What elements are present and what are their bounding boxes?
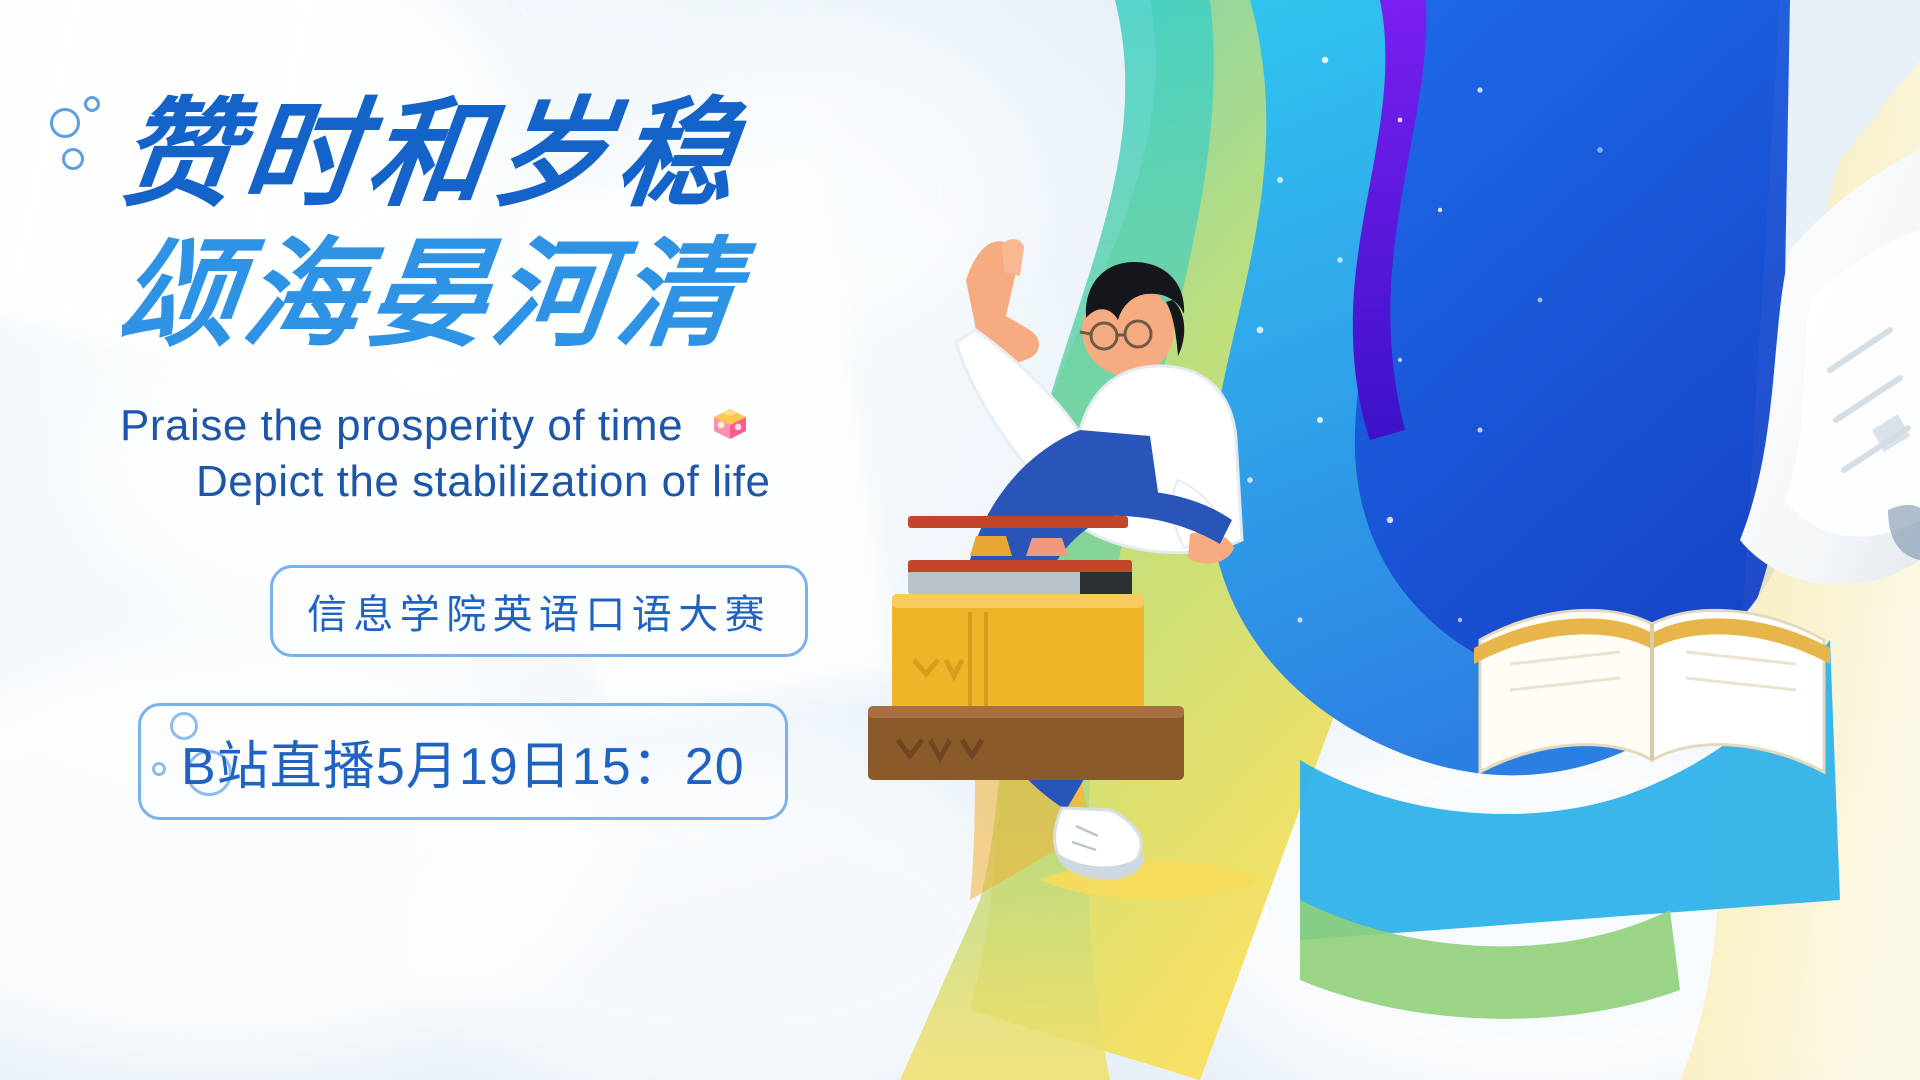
poster-content: 赞时和岁稳 颂海晏河清 Praise the prosperity of tim… — [0, 0, 950, 1080]
open-book-icon — [1474, 610, 1830, 772]
subtitle-line-1: Praise the prosperity of time — [120, 401, 683, 450]
poster-subtitle: Praise the prosperity of time Depict the… — [120, 398, 950, 511]
giftbox-icon — [710, 403, 750, 443]
broadcast-info-badge: B站直播5月19日15：20 — [138, 703, 788, 820]
poster-canvas: 赞时和岁稳 颂海晏河清 Praise the prosperity of tim… — [0, 0, 1920, 1080]
subtitle-line-2: Depict the stabilization of life — [196, 454, 950, 510]
subtitle-line-1-row: Praise the prosperity of time — [120, 398, 950, 454]
illustration — [780, 0, 1920, 1080]
event-name-badge: 信息学院英语口语大赛 — [270, 565, 808, 657]
poster-title-line-1: 赞时和岁稳 — [113, 96, 957, 214]
poster-title-line-2: 颂海晏河清 — [113, 236, 957, 354]
